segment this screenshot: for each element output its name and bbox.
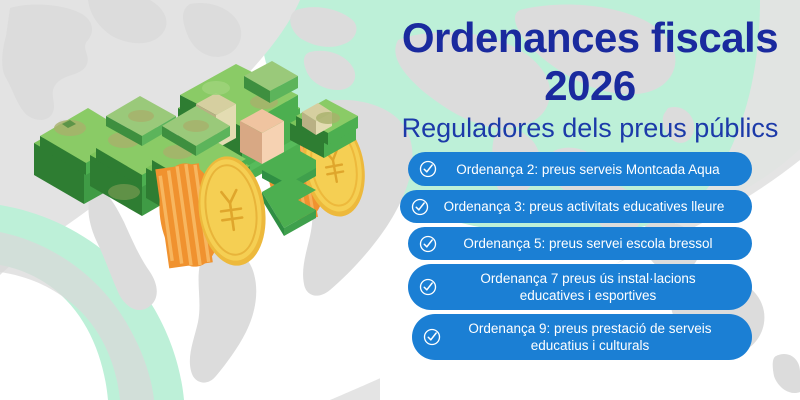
list-item-line-1: Ordenança 7 preus ús instal·lacions: [480, 271, 695, 286]
list-item-line-1: Ordenança 9: preus prestació de serveis: [468, 321, 711, 336]
list-item-line-1: Ordenança 5: preus servei escola bressol: [463, 236, 712, 251]
list-item-label: Ordenança 5: preus servei escola bressol: [442, 235, 738, 252]
check-circle-icon: [410, 197, 430, 217]
list-item-label: Ordenança 2: preus serveis Montcada Aqua: [442, 161, 738, 178]
ordinance-list: Ordenança 2: preus serveis Montcada Aqua…: [380, 152, 800, 364]
list-item-label: Ordenança 7 preus ús instal·lacions educ…: [442, 270, 738, 304]
title-line-2: 2026: [380, 62, 800, 110]
title-line-1: Ordenances fiscals: [402, 14, 778, 61]
content-column: Ordenances fiscals 2026 Reguladores dels…: [380, 0, 800, 400]
list-item[interactable]: Ordenança 3: preus activitats educatives…: [400, 190, 752, 223]
list-item-line-1: Ordenança 3: preus activitats educatives…: [444, 199, 725, 214]
check-circle-icon: [422, 327, 442, 347]
list-item-label: Ordenança 9: preus prestació de serveis …: [446, 320, 738, 354]
list-item-line-2: educatives i esportives: [442, 287, 734, 304]
check-circle-icon: [418, 159, 438, 179]
list-item[interactable]: Ordenança 7 preus ús instal·lacions educ…: [408, 264, 752, 310]
check-circle-icon: [418, 234, 438, 254]
poster-canvas: Ordenances fiscals 2026 Reguladores dels…: [0, 0, 800, 400]
check-circle-icon: [418, 277, 438, 297]
list-item-label: Ordenança 3: preus activitats educatives…: [434, 198, 738, 215]
list-item[interactable]: Ordenança 2: preus serveis Montcada Aqua: [408, 152, 752, 186]
list-item-line-1: Ordenança 2: preus serveis Montcada Aqua: [456, 162, 719, 177]
list-item[interactable]: Ordenança 5: preus servei escola bressol: [408, 227, 752, 260]
page-subtitle: Reguladores dels preus públics: [380, 112, 800, 144]
list-item-line-2: educatius i culturals: [446, 337, 734, 354]
page-title: Ordenances fiscals 2026: [380, 14, 800, 110]
list-item[interactable]: Ordenança 9: preus prestació de serveis …: [412, 314, 752, 360]
